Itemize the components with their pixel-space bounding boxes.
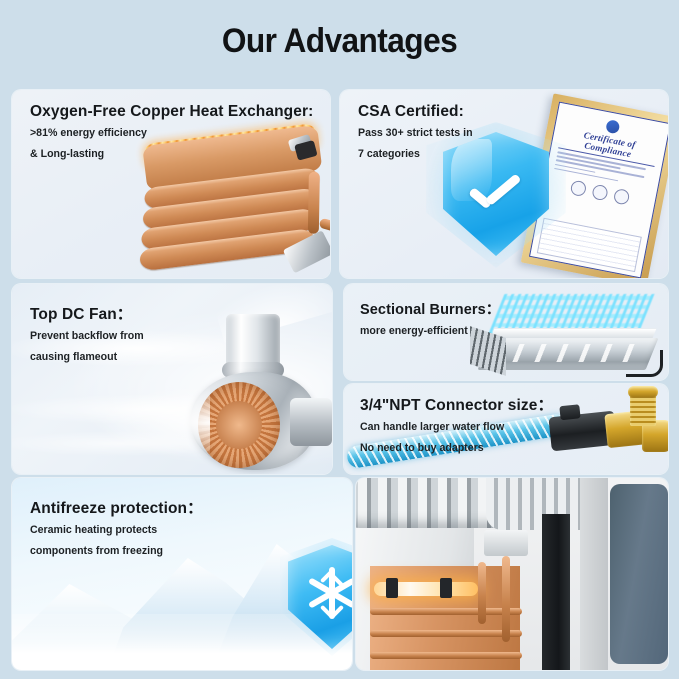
fan-side-outlet [290, 398, 332, 446]
burner-wire [626, 350, 663, 377]
csa-logo-icon [605, 119, 620, 134]
dc-fan-image [164, 290, 332, 474]
shield-icon [288, 545, 352, 649]
card-text-block: Oxygen-Free Copper Heat Exchanger: >81% … [30, 103, 313, 162]
card-heading: CSA Certified: [358, 103, 473, 121]
advantage-card-sectional-burners: Sectional Burners： more energy-efficient [344, 284, 668, 380]
card-heading: Top DC Fan： [30, 302, 144, 324]
advantages-infographic: Our Advantages Oxygen-Free Copper Heat E… [0, 0, 679, 679]
copper-tube [370, 608, 522, 615]
card-line-2: 7 categories [358, 146, 473, 162]
card-line-1: Pass 30+ strict tests in [358, 125, 473, 142]
card-line-1: more energy-efficient [360, 323, 500, 339]
checkmark-icon [471, 178, 523, 204]
card-heading: Oxygen-Free Copper Heat Exchanger: [30, 103, 313, 121]
seal-icon [569, 180, 587, 198]
card-text-block: CSA Certified: Pass 30+ strict tests in … [358, 103, 473, 162]
card-text-block: Antifreeze protection： Ceramic heating p… [30, 496, 203, 559]
copper-pipe [308, 172, 320, 234]
snowflake-shield-image [284, 542, 352, 652]
card-line-2: & Long-lasting [30, 146, 313, 162]
copper-tube [370, 652, 522, 659]
card-heading: Antifreeze protection： [30, 496, 203, 518]
advantage-card-antifreeze-protection: Antifreeze protection： Ceramic heating p… [12, 478, 352, 670]
burner-slots [490, 344, 645, 362]
snowflake-icon [306, 567, 352, 619]
seal-icon [591, 184, 609, 202]
advantage-card-npt-connector: 3/4"NPT Connector size： Can handle large… [344, 384, 668, 474]
metal-bracket [484, 530, 528, 556]
advantage-card-csa-certified: Certificate of Compliance [340, 90, 668, 278]
copper-tube [370, 630, 522, 637]
page-title: Our Advantages [24, 22, 655, 61]
card-line-1: Prevent backflow from [30, 328, 144, 345]
card-line-1: Ceramic heating protects [30, 522, 203, 539]
card-text-block: 3/4"NPT Connector size： Can handle large… [360, 393, 553, 456]
heating-element-clip [440, 578, 452, 598]
card-text-block: Top DC Fan： Prevent backflow from causin… [30, 302, 144, 365]
heater-black-panel [542, 514, 570, 670]
card-heading: 3/4"NPT Connector size： [360, 393, 553, 415]
copper-riser-tube [478, 562, 486, 624]
card-line-1: >81% energy efficiency [30, 125, 313, 142]
heater-gray-panel [580, 478, 608, 670]
copper-riser-tube [502, 556, 510, 642]
heater-interior-photo [356, 478, 668, 670]
airflow-intake [100, 386, 210, 458]
card-line-1: Can handle larger water flow [360, 419, 553, 436]
card-heading: Sectional Burners： [360, 298, 500, 319]
brass-cap [628, 386, 658, 398]
heater-side-casing [610, 484, 668, 664]
card-line-2: No need to buy adapters [360, 440, 553, 456]
advantage-card-top-dc-fan: Top DC Fan： Prevent backflow from causin… [12, 284, 332, 474]
card-line-2: components from freezing [30, 543, 203, 559]
heating-element-clip [386, 578, 398, 598]
fan-copper-rotor [198, 382, 280, 468]
advantage-card-copper-heat-exchanger: Oxygen-Free Copper Heat Exchanger: >81% … [12, 90, 330, 278]
card-text-block: Sectional Burners： more energy-efficient [360, 298, 500, 339]
seal-icon [612, 188, 630, 206]
card-line-2: causing flameout [30, 349, 144, 365]
